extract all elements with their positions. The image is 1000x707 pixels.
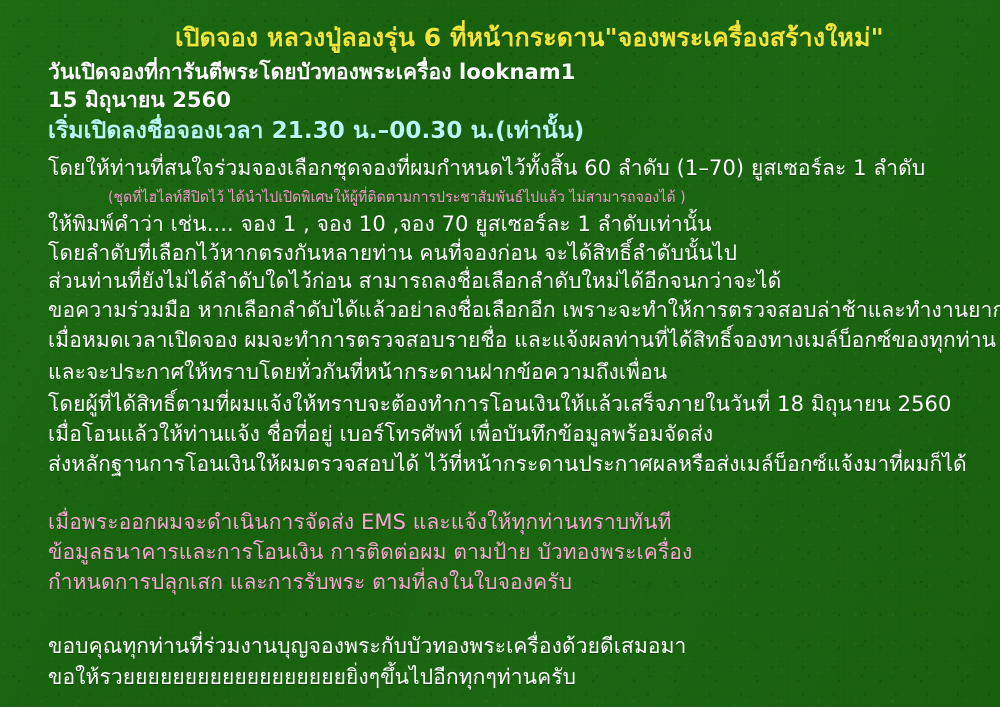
announcement-poster: เปิดจอง หลวงปู่ลองรุ่น 6 ที่หน้ากระดาน"จ… xyxy=(0,0,1000,707)
rule-retry: ส่วนท่านที่ยังไม่ได้ลำดับใดไว้ก่อน สามาร… xyxy=(48,271,781,292)
ceremony-schedule: กำหนดการปลุกเสก และการรับพระ ตามที่ลงในใ… xyxy=(48,572,572,593)
rule-confirm-details: เมื่อโอนแล้วให้ท่านแจ้ง ชื่อที่อยู่ เบอร… xyxy=(48,424,713,445)
shipping-ems: เมื่อพระออกผมจะดำเนินการจัดส่ง EMS และแจ… xyxy=(48,512,672,533)
rule-transfer-proof: ส่งหลักฐานการโอนเงินให้ผมตรวจสอบได้ ไว้ท… xyxy=(48,454,967,475)
rule-cooperate: ขอความร่วมมือ หากเลือกลำดับได้แล้วอย่าลง… xyxy=(48,300,1000,321)
announcement-date: 15 มิถุนายน 2560 xyxy=(48,90,231,111)
rule-format: ให้พิมพ์คำว่า เช่น.... จอง 1 , จอง 10 ,จ… xyxy=(48,214,712,235)
page-title: เปิดจอง หลวงปู่ลองรุ่น 6 ที่หน้ากระดาน"จ… xyxy=(175,25,884,50)
bank-and-contact: ข้อมูลธนาคารและการโอนเงิน การติดต่อผม ตา… xyxy=(48,542,692,563)
subtitle-source: วันเปิดจองที่การันตีพระโดยบัวทองพระเครื่… xyxy=(48,62,575,83)
thanks-message: ขอบคุณทุกท่านที่ร่วมงานบุญจองพระกับบัวทอ… xyxy=(48,636,686,657)
rule-announce: และจะประกาศให้ทราบโดยทั่วกันที่หน้ากระดา… xyxy=(48,362,667,383)
rule-priority: โดยลำดับที่เลือกไว้หากตรงกันหลายท่าน คนท… xyxy=(48,243,737,264)
rule-verify: เมื่อหมดเวลาเปิดจอง ผมจะทำการตรวจสอบรายช… xyxy=(48,330,996,351)
booking-time: เริ่มเปิดลงชื่อจองเวลา 21.30 น.–00.30 น.… xyxy=(48,120,584,143)
blessing-message: ขอให้รวยยยยยยยยยยยยยยยยยยยิ่งๆขึ้นไปอีกท… xyxy=(48,667,576,688)
note-highlight-closed: (ชุดที่ไฮไลท์สีปิดไว้ ได้นำไปเปิดพิเศษให… xyxy=(108,190,686,205)
rule-transfer-deadline: โดยผู้ที่ได้สิทธิ์ตามที่ผมแจ้งให้ทราบจะต… xyxy=(48,394,951,415)
rule-sets: โดยให้ท่านที่สนใจร่วมจองเลือกชุดจองที่ผม… xyxy=(48,158,925,179)
